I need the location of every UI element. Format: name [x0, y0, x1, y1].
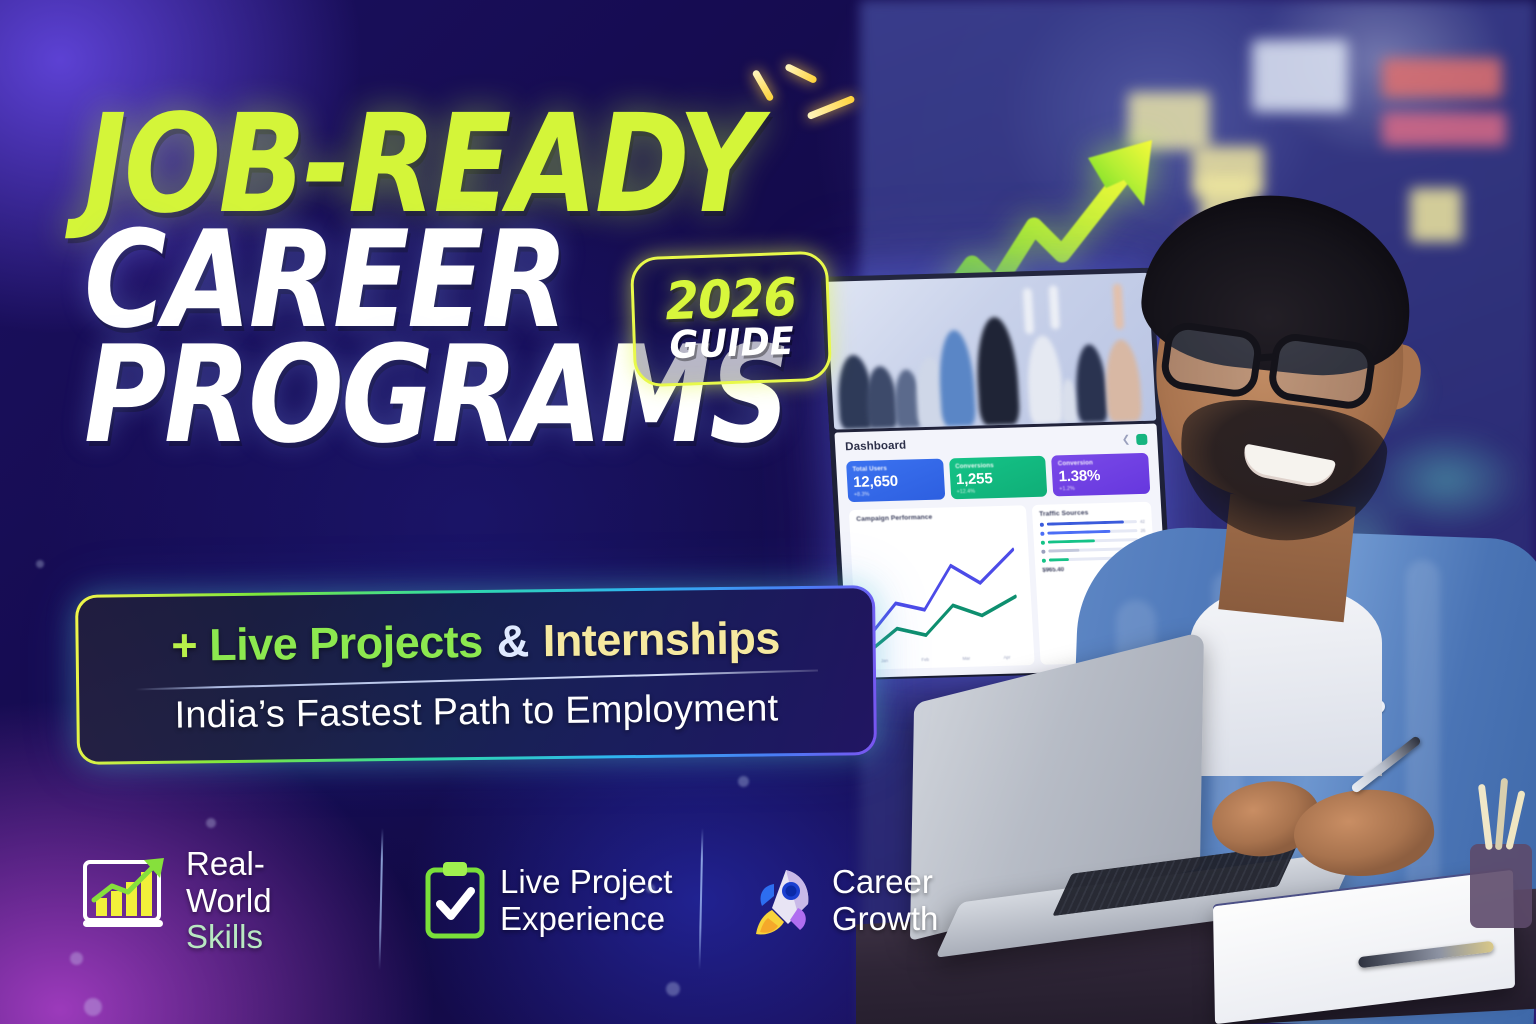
subtitle-tagline: India’s Fastest Path to Employment — [174, 687, 778, 737]
person-at-laptop-photo — [976, 0, 1536, 1024]
bar-chart-growth-icon — [80, 858, 172, 944]
subtitle-panel-inner: + Live Projects & Internships India’s Fa… — [78, 588, 874, 762]
x-tick: Feb — [921, 657, 929, 662]
feature-line-1: Real- — [186, 845, 265, 882]
year-guide-badge: 2026 GUIDE — [630, 251, 832, 388]
bokeh-particle — [206, 818, 216, 828]
feature-label: Career Growth — [832, 864, 938, 938]
kpi-value: 12,650 — [853, 472, 939, 492]
bokeh-particle — [36, 560, 44, 568]
kpi-card-total-users: Total Users 12,650 +8.3% — [846, 459, 945, 503]
bokeh-particle — [738, 776, 749, 787]
feature-label: Live Project Experience — [500, 864, 672, 938]
feature-line-3: Skills — [186, 918, 263, 955]
feature-live-project-experience: Live Project Experience — [380, 826, 700, 976]
feature-line-1: Career — [832, 863, 933, 900]
rocket-icon — [744, 864, 818, 938]
bokeh-particle — [666, 982, 680, 996]
feature-career-growth: Career Growth — [700, 826, 940, 976]
x-tick: Jan — [881, 658, 888, 663]
feature-line-2: World — [186, 882, 272, 919]
bokeh-particle — [84, 998, 102, 1016]
feature-line-2: Growth — [832, 900, 938, 937]
kpi-delta: +8.3% — [854, 490, 939, 498]
feature-real-world-skills: Real- World Skills — [80, 826, 380, 976]
dashboard-title: Dashboard — [845, 440, 907, 454]
feature-divider — [699, 828, 704, 970]
bokeh-particle — [646, 884, 655, 893]
plus-sign: + — [171, 619, 197, 670]
subtitle-panel: + Live Projects & Internships India’s Fa… — [75, 585, 877, 765]
feature-label: Real- World Skills — [186, 846, 272, 957]
subtitle-cream: Internships — [542, 612, 780, 666]
subtitle-green: Live Projects — [209, 616, 483, 670]
feature-line-2: Experience — [500, 900, 665, 937]
bokeh-particle — [70, 952, 83, 965]
spark-line-icon — [784, 63, 818, 84]
headline-line-3: PROGRAMS — [84, 339, 722, 452]
feature-row: Real- World Skills Live Project Experien… — [80, 826, 940, 976]
x-tick: Mar — [962, 656, 970, 661]
clipboard-check-icon — [424, 860, 486, 942]
subtitle-primary-line: + Live Projects & Internships — [171, 612, 780, 671]
badge-word: GUIDE — [669, 322, 795, 364]
pen-holder-cup — [1448, 778, 1536, 928]
promotional-banner: Dashboard ❮ Total Users 12,650 +8.3% Con… — [0, 0, 1536, 1024]
feature-line-1: Live Project — [500, 863, 672, 900]
ampersand: & — [496, 615, 529, 666]
feature-divider — [379, 828, 384, 970]
